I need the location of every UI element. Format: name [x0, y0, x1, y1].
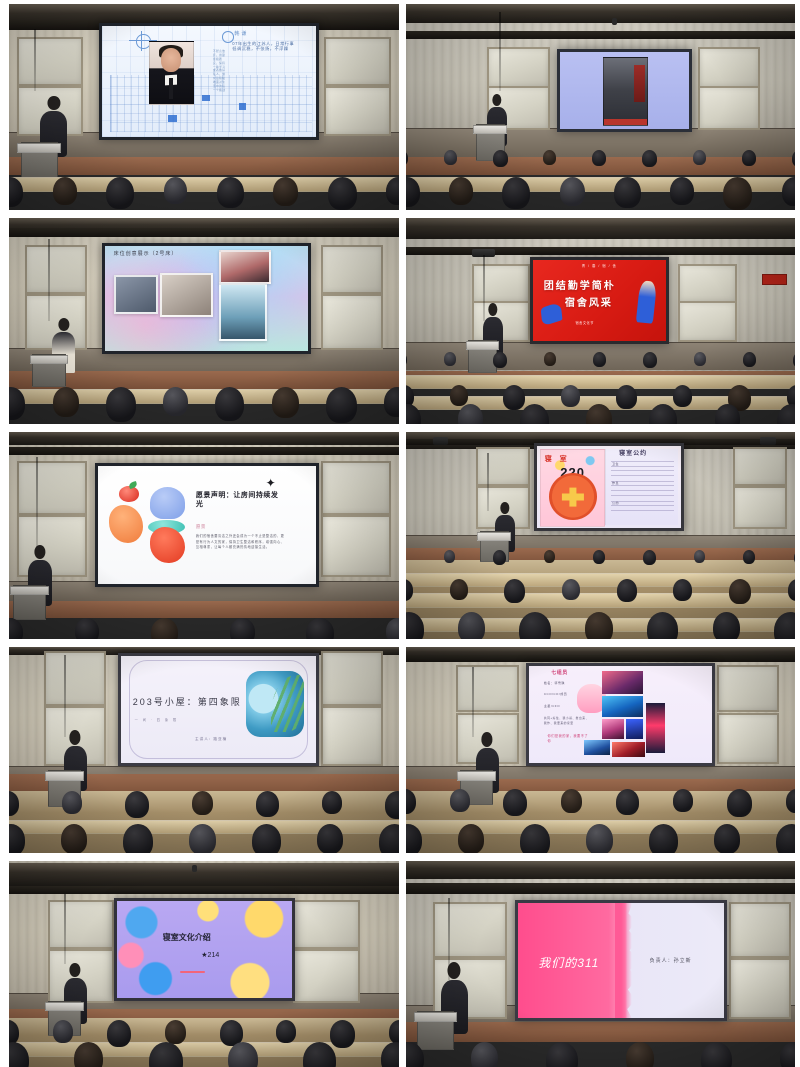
audience-head — [504, 579, 525, 603]
slide4-eyebrow: 青 / 春 / 宿 / 舍 — [582, 264, 617, 268]
presenter-head — [35, 545, 46, 560]
audience-head — [74, 1042, 103, 1067]
audience-head — [273, 177, 298, 206]
audience-head — [406, 177, 420, 207]
audience-head — [673, 579, 692, 601]
audience-row-front — [406, 404, 796, 425]
audience-head — [701, 1042, 732, 1067]
whiteboard-right-upper — [733, 447, 788, 486]
audience-head — [502, 177, 530, 209]
apple-icon — [119, 486, 139, 501]
audience-head — [792, 150, 795, 167]
slide8-field-2: CCO/CO/成员 — [544, 693, 567, 697]
audience-head — [450, 789, 470, 812]
audience-head — [406, 612, 424, 639]
audience-head — [519, 612, 551, 639]
audience-row-front — [406, 1042, 796, 1067]
audience-head — [774, 612, 795, 639]
dorm-poster: 220 寝 室 — [540, 449, 605, 527]
whiteboard-right-lower — [293, 949, 359, 1002]
audience-head — [723, 177, 752, 210]
slide-room-203: 203号小屋：第四象限 一 间 · 四 象 限 主讲人：路亚楠 — [121, 656, 316, 763]
audience-head — [794, 550, 795, 565]
audience-head — [643, 352, 657, 368]
slide5-body: 我们的宿舍要清洁之外还会成为一个不止是整洁的、更是有行为人文的家，保持卫生整洁和… — [196, 534, 288, 550]
rule-divider — [611, 481, 674, 482]
slide5-heading: 愿景声明：让房间持续发光 — [196, 492, 283, 510]
lecture-hall-scene: 青 / 春 / 宿 / 舍 团结勤学简朴 宿舍风采 宿舍文化节 — [406, 218, 796, 424]
audience-head — [788, 579, 795, 601]
audience-row-back — [406, 352, 796, 371]
audience-head — [61, 824, 87, 853]
lecture-hall-scene: 203号小屋：第四象限 一 间 · 四 象 限 主讲人：路亚楠 — [9, 647, 399, 853]
photo-cell-10[interactable]: 我们的311 负责人：孙立新 — [406, 861, 796, 1067]
slide4-footnote: 宿舍文化节 — [576, 321, 594, 325]
audience-head — [614, 177, 641, 208]
slide-red-banner: 青 / 春 / 宿 / 舍 团结勤学简朴 宿舍风采 宿舍文化节 — [533, 260, 665, 340]
lecture-hall-scene: 我们的311 负责人：孙立新 — [406, 861, 796, 1067]
slide9-subheading: ★214 — [201, 951, 219, 959]
audience-head — [9, 177, 23, 207]
audience-head — [9, 1020, 19, 1045]
wall-speaker-icon-2 — [760, 437, 776, 445]
whiteboard-right-upper — [324, 37, 390, 86]
projection-screen[interactable]: 床位创意展示（2号床） — [102, 243, 311, 354]
audience-head — [406, 1042, 424, 1067]
audience-head — [9, 387, 25, 420]
palm-leaf-icon — [271, 675, 304, 732]
audience-row-front — [9, 387, 399, 424]
audience-head — [647, 612, 678, 639]
rule-divider — [611, 490, 674, 491]
collage-photo-4 — [626, 719, 642, 738]
rule-divider — [611, 475, 674, 476]
rule-divider — [611, 505, 674, 506]
audience-head — [743, 352, 756, 367]
slide6-rules-heading: 寝室公约 — [619, 451, 647, 459]
portrait-tie — [169, 78, 172, 99]
lecture-hall-scene: ✦ 愿景声明：让房间持续发光 愿景 我们的宿舍要清洁之外还会成为一个不止是整洁的… — [9, 432, 399, 638]
projection-screen[interactable]: 韩谦 07年出生的江苏人，日常行事低调沉稳，不张扬，不浮躁 不轻言放弃，用勤奋和… — [99, 23, 319, 140]
hanging-mic-cable — [34, 29, 36, 91]
presenter-head — [47, 96, 60, 111]
slide-video-frame — [560, 52, 689, 128]
audience-head — [450, 579, 468, 600]
red-dancer-figure — [636, 280, 657, 323]
whiteboard-left-upper — [476, 447, 531, 486]
audience-head — [385, 791, 398, 819]
audience-head — [53, 1020, 73, 1043]
audience-head — [9, 1042, 29, 1067]
audience-head — [444, 352, 456, 366]
slide3-heading: 床位创意展示（2号床） — [114, 251, 178, 257]
wall-speaker-icon — [433, 437, 449, 445]
audience-head — [306, 618, 334, 639]
poster-circle — [549, 473, 597, 520]
projection-screen[interactable]: 220 寝 室 寝室公约 — [534, 443, 684, 531]
audience-row-mid — [406, 150, 796, 169]
rules-panel: 寝室公约 卫生 作息 公约 — [605, 449, 678, 525]
audience-head — [406, 789, 416, 814]
audience-head — [444, 550, 455, 563]
audience-head — [444, 150, 457, 165]
audience-head — [125, 791, 149, 818]
audience-head — [562, 579, 580, 600]
presenter-head — [70, 963, 81, 978]
student-portrait-photo — [149, 41, 194, 105]
photo-cell-5[interactable]: ✦ 愿景声明：让房间持续发光 愿景 我们的宿舍要清洁之外还会成为一个不止是整洁的… — [9, 432, 399, 638]
audience-row-mid — [406, 789, 796, 816]
hanging-mic-cable — [487, 453, 489, 511]
whiteboard-right-lower — [729, 958, 791, 1020]
audience-head — [458, 824, 484, 853]
audience-head — [406, 824, 422, 853]
projection-screen[interactable]: 青 / 春 / 宿 / 舍 团结勤学简朴 宿舍风采 宿舍文化节 — [530, 257, 668, 343]
audience-head — [673, 789, 693, 812]
hanging-mic-cable — [472, 667, 474, 737]
audience-row-front — [9, 177, 399, 206]
whiteboard-right-lower — [698, 86, 760, 129]
audience-head — [189, 824, 216, 853]
audience-head — [458, 404, 483, 425]
blueprint-cityscape — [110, 75, 311, 133]
red-swoosh-shape — [541, 302, 563, 327]
whiteboard-left-upper — [433, 902, 507, 958]
slide-our-311: 我们的311 负责人：孙立新 — [518, 903, 724, 1018]
photo-cell-1[interactable]: 韩谦 07年出生的江苏人，日常行事低调沉稳，不张扬，不浮躁 不轻言放弃，用勤奋和… — [9, 4, 399, 210]
audience-head — [520, 824, 550, 853]
audience-head — [776, 824, 795, 853]
whiteboard-right-lower — [321, 515, 391, 577]
whiteboard-right-upper — [321, 461, 391, 514]
hanging-mic-cable — [64, 655, 66, 737]
podium-3 — [32, 354, 65, 387]
audience-head — [192, 791, 213, 815]
photo-cell-9[interactable]: 寝室文化介绍 ★214 — [9, 861, 399, 1067]
blob-orange — [109, 505, 144, 543]
audience-head — [9, 824, 25, 853]
audience-head — [544, 352, 556, 366]
audience-head — [252, 824, 281, 853]
ceiling-camera-icon — [612, 18, 617, 25]
audience-head — [782, 177, 795, 206]
audience-head — [406, 579, 413, 601]
audience-head — [386, 177, 398, 205]
audience-head — [53, 177, 77, 205]
projection-screen[interactable]: 203号小屋：第四象限 一 间 · 四 象 限 主讲人：路亚楠 — [118, 653, 319, 766]
blueprint-marker-1 — [168, 115, 177, 123]
audience-head — [693, 150, 706, 165]
audience-head — [328, 177, 357, 210]
photo-cell-3[interactable]: 床位创意展示（2号床） — [9, 218, 399, 424]
exit-sign — [762, 274, 787, 285]
projection-screen[interactable]: 七组员 姓名：郭雪琪 CCO/CO/成员 主星/CFO 共同+好住、我小哥、舞台… — [526, 663, 715, 766]
rule-divider — [611, 510, 674, 511]
audience-head — [713, 612, 740, 639]
audience-row-front — [9, 824, 399, 853]
rule-divider — [611, 485, 674, 486]
audience-head — [326, 387, 357, 423]
audience-head — [386, 618, 398, 639]
poster-label: 寝 室 — [545, 456, 570, 465]
blueprint-crosshair-v — [141, 31, 142, 51]
slide8-field-3: 主星/CFO — [544, 705, 560, 709]
slide1-side-note: 不轻言放弃，用勤奋和踏实，保持一种学习或者做好每人，做公益积极地面对生活中的每一… — [213, 50, 228, 93]
slide-team-collage: 七组员 姓名：郭雪琪 CCO/CO/成员 主星/CFO 共同+好住、我小哥、舞台… — [529, 666, 712, 763]
audience-head — [458, 612, 485, 639]
slide10-heading: 我们的311 — [538, 954, 599, 971]
video-still — [603, 57, 649, 126]
whiteboard-left-lower — [17, 515, 87, 577]
audience-head — [276, 1020, 296, 1043]
slide8-body: 共同+好住、我小哥、舞台来、我作、我要来的家里 — [544, 716, 592, 725]
audience-row-mid — [406, 579, 796, 604]
rules-group-3: 公约 — [612, 502, 619, 506]
projection-screen[interactable]: 我们的311 负责人：孙立新 — [515, 900, 727, 1021]
slide5-subheading: 愿景 — [196, 524, 206, 530]
audience-row-front — [406, 824, 796, 853]
audience-head — [793, 352, 795, 368]
audience-head — [616, 789, 639, 815]
audience-head — [62, 791, 82, 814]
ceiling-band — [9, 886, 399, 894]
bed-photo-2 — [160, 273, 213, 317]
audience-head — [729, 579, 751, 604]
presenter-head — [492, 94, 501, 107]
slide4-line1: 团结勤学简朴 — [544, 277, 616, 292]
audience-head — [649, 404, 677, 425]
photo-cell-2[interactable] — [406, 4, 796, 210]
audience-head — [53, 387, 79, 417]
bed-photo-1 — [114, 275, 159, 314]
whiteboard-left-upper — [17, 461, 87, 514]
whiteboard-right-lower — [324, 86, 390, 135]
whiteboard-right-upper — [698, 47, 760, 88]
slide7-subheading: 一 间 · 四 象 限 — [135, 718, 178, 722]
audience-row-front — [406, 612, 796, 639]
audience-head — [471, 1042, 498, 1067]
stage-floor — [9, 601, 399, 617]
lecture-hall-scene: 韩谦 07年出生的江苏人，日常行事低调沉稳，不张扬，不浮躁 不轻言放弃，用勤奋和… — [9, 4, 399, 210]
slide-blueprint-portrait: 韩谦 07年出生的江苏人，日常行事低调沉稳，不张扬，不浮躁 不轻言放弃，用勤奋和… — [102, 26, 316, 137]
audience-head — [626, 1042, 654, 1067]
rule-divider — [611, 470, 674, 471]
whiteboard-right-lower — [321, 294, 383, 350]
audience-head — [303, 1042, 336, 1067]
stage-floor — [9, 157, 399, 176]
audience-head — [272, 387, 299, 418]
audience-head — [9, 791, 19, 816]
portrait-face — [161, 48, 182, 72]
whiteboard-right-lower — [717, 713, 779, 764]
photo-cell-6[interactable]: 220 寝 室 寝室公约 — [406, 432, 796, 638]
audience-head — [215, 387, 244, 421]
slide1-heading: 韩谦 — [234, 31, 248, 37]
audience-row-front — [406, 177, 796, 210]
photo-cell-8[interactable]: 七组员 姓名：郭雪琪 CCO/CO/成员 主星/CFO 共同+好住、我小哥、舞台… — [406, 647, 796, 853]
audience-head — [165, 1020, 186, 1044]
audience-head — [694, 550, 705, 563]
audience-head — [643, 550, 656, 565]
collage-photo-3 — [602, 719, 624, 738]
audience-head — [381, 1042, 398, 1067]
bed-photo-4 — [219, 283, 268, 342]
presenter-head — [482, 732, 493, 747]
audience-head — [9, 618, 23, 639]
lecture-hall-scene: 220 寝 室 寝室公约 — [406, 432, 796, 638]
rule-divider — [611, 461, 674, 462]
photo-cell-4[interactable]: 青 / 春 / 宿 / 舍 团结勤学简朴 宿舍风采 宿舍文化节 — [406, 218, 796, 424]
audience-head — [593, 550, 605, 564]
slide1-body: 07年出生的江苏人，日常行事低调沉稳，不张扬，不浮躁 — [232, 41, 296, 52]
audience-head — [228, 1042, 258, 1067]
sparkle-icon: ✦ — [266, 477, 276, 489]
audience-head — [780, 1042, 795, 1067]
whiteboard-right-upper — [729, 902, 791, 958]
ceiling-band — [9, 228, 399, 236]
whiteboard-left-upper — [44, 651, 106, 707]
slide8-field-1: 姓名：郭雪琪 — [544, 682, 565, 686]
audience-head — [714, 824, 740, 853]
slide-dorm-rules: 220 寝 室 寝室公约 — [537, 446, 681, 528]
audience-row-front — [9, 618, 399, 639]
poster-cross-graphic — [562, 488, 584, 507]
hanging-mic-cable — [36, 457, 38, 548]
audience-head — [493, 352, 507, 368]
rule-divider — [611, 466, 674, 467]
podium-1 — [21, 142, 58, 179]
hanging-mic-cable — [499, 12, 501, 90]
audience-row-front — [9, 1042, 399, 1067]
audience-head — [106, 387, 136, 422]
whiteboard-right-lower — [733, 486, 788, 529]
audience-row-mid — [9, 791, 399, 818]
audience-head — [544, 550, 555, 563]
ceiling-camera-icon — [192, 865, 197, 872]
collage-photo-5 — [584, 740, 610, 756]
whiteboard-left-upper — [17, 37, 83, 86]
photo-collage-grid: 韩谦 07年出生的江苏人，日常行事低调沉稳，不张扬，不浮躁 不轻言放弃，用勤奋和… — [0, 0, 800, 1067]
audience-head — [786, 789, 795, 813]
lecture-hall-scene: 七组员 姓名：郭雪琪 CCO/CO/成员 主星/CFO 共同+好住、我小哥、舞台… — [406, 647, 796, 853]
ceiling-band — [406, 31, 796, 39]
audience-head — [777, 404, 795, 425]
ceiling-soffit — [9, 863, 399, 886]
whiteboard-right-upper — [321, 651, 383, 707]
hanging-mic-cable — [48, 239, 50, 321]
ceiling-band — [406, 247, 796, 255]
split-torn-edge — [615, 903, 644, 1018]
slide4-line2: 宿舍风采 — [565, 294, 613, 309]
audience-head — [230, 618, 255, 639]
audience-head — [164, 177, 187, 204]
whiteboard-right-upper — [293, 900, 359, 949]
slide8-heading: 七组员 — [551, 670, 568, 676]
whiteboard-left-upper — [472, 264, 531, 303]
audience-head — [493, 150, 508, 167]
lecture-hall-scene: 寝室文化介绍 ★214 — [9, 861, 399, 1067]
collage-photo-6 — [612, 742, 645, 758]
audience-head — [406, 404, 421, 425]
audience-head — [586, 824, 613, 853]
slide10-byline: 负责人：孙立新 — [650, 957, 692, 964]
podium-5 — [13, 585, 46, 620]
audience-head — [642, 150, 657, 167]
blob-blue — [150, 487, 185, 519]
rule-divider — [611, 501, 674, 502]
audience-head — [406, 352, 407, 367]
audience-head — [449, 177, 473, 205]
blob-red — [150, 527, 185, 562]
bed-photo-3 — [219, 250, 272, 283]
ceiling-band — [9, 447, 399, 455]
audience-head — [493, 550, 506, 565]
projection-screen[interactable]: ✦ 愿景声明：让房间持续发光 愿景 我们的宿舍要清洁之外还会成为一个不止是整洁的… — [95, 463, 319, 587]
audience-head — [149, 1042, 183, 1067]
lecture-hall-scene: 床位创意展示（2号床） — [9, 218, 399, 424]
whiteboard-right-lower — [678, 301, 737, 342]
audience-head — [743, 550, 755, 564]
rule-divider — [611, 495, 674, 496]
audience-head — [715, 404, 740, 425]
projection-screen[interactable]: 寝室文化介绍 ★214 — [114, 898, 295, 1001]
blueprint-marker-3 — [239, 103, 246, 110]
audience-head — [560, 177, 585, 206]
audience-head — [727, 789, 752, 817]
whiteboard-right-upper — [717, 665, 779, 712]
audience-head — [742, 150, 756, 166]
audience-head — [546, 1042, 578, 1067]
audience-head — [379, 824, 398, 853]
audience-head — [163, 387, 188, 416]
audience-head — [561, 789, 582, 813]
collage-photo-2 — [602, 696, 642, 717]
ceiling-soffit — [406, 861, 796, 880]
underline-accent — [180, 971, 205, 973]
ceiling-soffit — [9, 432, 399, 444]
whiteboard-right-lower — [321, 706, 383, 766]
presenter-head — [70, 730, 81, 745]
audience-head — [543, 150, 556, 165]
whiteboard-right-upper — [321, 245, 383, 294]
rules-group-1: 卫生 — [612, 463, 619, 467]
slide-vision-statement: ✦ 愿景声明：让房间持续发光 愿景 我们的宿舍要清洁之外还会成为一个不止是整洁的… — [98, 466, 316, 584]
audience-head — [256, 791, 279, 817]
audience-head — [389, 1020, 398, 1044]
audience-head — [322, 791, 342, 814]
ceiling-band — [406, 883, 796, 893]
slide7-footnote: 主讲人：路亚楠 — [195, 737, 227, 741]
audience-head — [75, 618, 99, 639]
collage-photo-1 — [602, 671, 642, 694]
audience-head — [670, 177, 694, 205]
rules-group-2: 作息 — [612, 482, 619, 486]
collage-photo-7 — [646, 703, 664, 753]
hanging-mic-cable — [483, 255, 485, 321]
ceiling-soffit — [406, 4, 796, 23]
audience-head — [694, 352, 706, 366]
photo-cell-7[interactable]: 203号小屋：第四象限 一 间 · 四 象 限 主讲人：路亚楠 — [9, 647, 399, 853]
slide-bed-showcase: 床位创意展示（2号床） — [105, 246, 308, 351]
audience-row-back — [406, 550, 796, 566]
ceiling-soffit — [406, 218, 796, 239]
audience-head — [592, 150, 606, 166]
audience-head — [317, 824, 343, 853]
whiteboard-left-upper — [456, 665, 518, 712]
whiteboard-left-upper — [25, 245, 87, 294]
audience-head — [520, 404, 549, 425]
projection-screen[interactable] — [557, 49, 692, 131]
